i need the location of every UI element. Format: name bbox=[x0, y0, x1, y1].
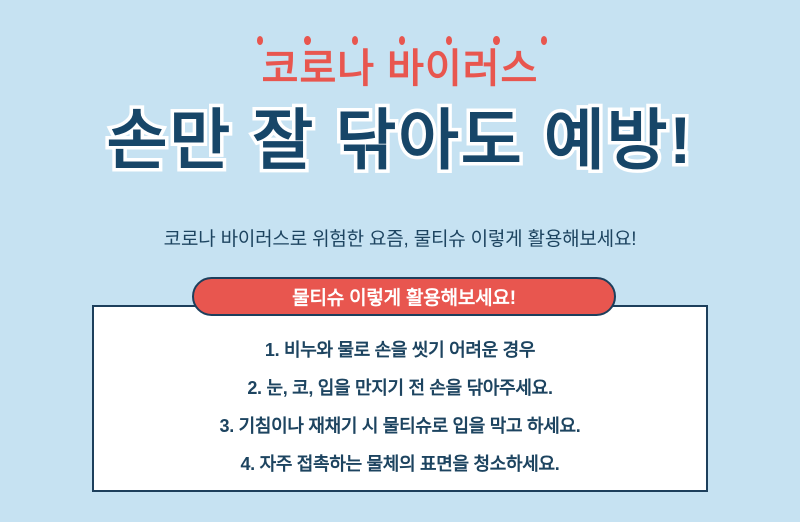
page-subtitle: 코로나 바이러스로 위험한 요즘, 물티슈 이렇게 활용해보세요! bbox=[0, 224, 800, 251]
emphasis-dot-icon bbox=[304, 36, 310, 45]
poster-canvas: 코로나 바이러스 손만 잘 닦아도 예방! 코로나 바이러스로 위험한 요즘, … bbox=[0, 0, 800, 522]
emphasis-dot-icon bbox=[352, 36, 358, 45]
list-item: 1. 비누와 물로 손을 씻기 어려운 경우 bbox=[265, 336, 535, 362]
emphasis-dots-icon bbox=[253, 36, 547, 45]
emphasis-dot-icon bbox=[446, 36, 452, 45]
emphasis-dot-icon bbox=[541, 36, 547, 45]
eyebrow-title: 코로나 바이러스 bbox=[0, 48, 800, 90]
tips-banner-label: 물티슈 이렇게 활용해보세요! bbox=[292, 283, 516, 310]
eyebrow-block: 코로나 바이러스 bbox=[0, 36, 800, 90]
tips-list: 1. 비누와 물로 손을 씻기 어려운 경우 2. 눈, 코, 입을 만지기 전… bbox=[92, 336, 708, 476]
emphasis-dot-icon bbox=[257, 36, 263, 45]
emphasis-dot-icon bbox=[493, 36, 499, 45]
emphasis-dot-icon bbox=[399, 36, 405, 45]
page-title: 손만 잘 닦아도 예방! bbox=[0, 104, 800, 177]
list-item: 3. 기침이나 재채기 시 물티슈로 입을 막고 하세요. bbox=[220, 412, 581, 438]
list-item: 4. 자주 접촉하는 물체의 표면을 청소하세요. bbox=[240, 450, 559, 476]
tips-banner: 물티슈 이렇게 활용해보세요! bbox=[192, 277, 616, 316]
list-item: 2. 눈, 코, 입을 만지기 전 손을 닦아주세요. bbox=[247, 374, 552, 400]
